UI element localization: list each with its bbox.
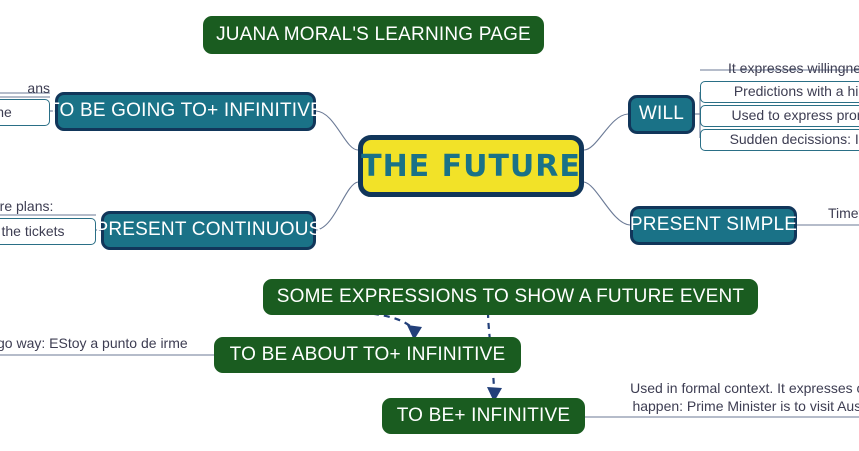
expressions-header-label: SOME EXPRESSIONS TO SHOW A FUTURE EVENT [277,287,744,308]
note-to-be-infinitive: Used in formal context. It expresses obl… [612,380,859,416]
note-to-be-about-to: go way: EStoy a punto de irme [0,335,212,353]
branch-to-be-going-to-label: TO BE GOING TO+ INFINITIVE [48,101,323,122]
leaf-text-line1: Used in formal context. It expresses obl… [630,380,859,396]
leaf-will-predictions[interactable]: Predictions with a hig [700,81,859,103]
leaf-text-line2: happen: Prime Minister is to visit Austr… [632,398,859,414]
leaf-going-to-cinema[interactable]: cine [0,99,50,126]
leaf-text: ans [27,81,50,96]
page-title-text: JUANA MORAL'S LEARNING PAGE [216,25,531,46]
leaf-text: ture plans: [0,199,53,214]
mindmap-canvas: JUANA MORAL'S LEARNING PAGE THE FUTURE T… [0,0,859,451]
expression-to-be-about-to[interactable]: TO BE ABOUT TO+ INFINITIVE [214,337,521,373]
page-title-banner: JUANA MORAL'S LEARNING PAGE [203,16,544,54]
leaf-text: It expresses willingnes [728,61,859,76]
leaf-text: Predictions with a hig [734,84,859,99]
leaf-present-continuous-tickets[interactable]: the tickets [0,218,96,245]
leaf-text: Timet [828,206,859,221]
leaf-text: Used to express prom [732,108,859,123]
leaf-present-simple-timetables: Timet [828,205,859,223]
leaf-will-promises[interactable]: Used to express prom [700,105,859,127]
branch-will[interactable]: WILL [628,95,695,134]
central-node-label: THE FUTURE [361,150,581,183]
leaf-will-willingness: It expresses willingnes [728,60,859,78]
leaf-text: the tickets [1,224,64,239]
leaf-will-sudden-decisions[interactable]: Sudden decissions: Im [700,129,859,151]
branch-present-continuous-label: PRESENT CONTINUOUS [96,220,322,241]
expression-to-be-about-to-label: TO BE ABOUT TO+ INFINITIVE [230,345,506,366]
expression-to-be-infinitive[interactable]: TO BE+ INFINITIVE [382,398,585,434]
leaf-text: Sudden decissions: Im [730,132,859,147]
branch-will-label: WILL [639,104,684,125]
leaf-going-to-plans: ans [0,80,50,98]
branch-to-be-going-to[interactable]: TO BE GOING TO+ INFINITIVE [55,92,316,131]
leaf-text: cine [0,105,12,120]
central-node-the-future[interactable]: THE FUTURE [358,135,584,197]
branch-present-simple-label: PRESENT SIMPLE [630,215,797,236]
branch-present-simple[interactable]: PRESENT SIMPLE [630,206,797,245]
leaf-present-continuous-plans: ture plans: [0,198,98,216]
branch-present-continuous[interactable]: PRESENT CONTINUOUS [101,211,316,250]
expression-to-be-infinitive-label: TO BE+ INFINITIVE [397,406,571,427]
leaf-text: go way: EStoy a punto de irme [0,336,188,351]
expressions-header[interactable]: SOME EXPRESSIONS TO SHOW A FUTURE EVENT [263,279,758,315]
